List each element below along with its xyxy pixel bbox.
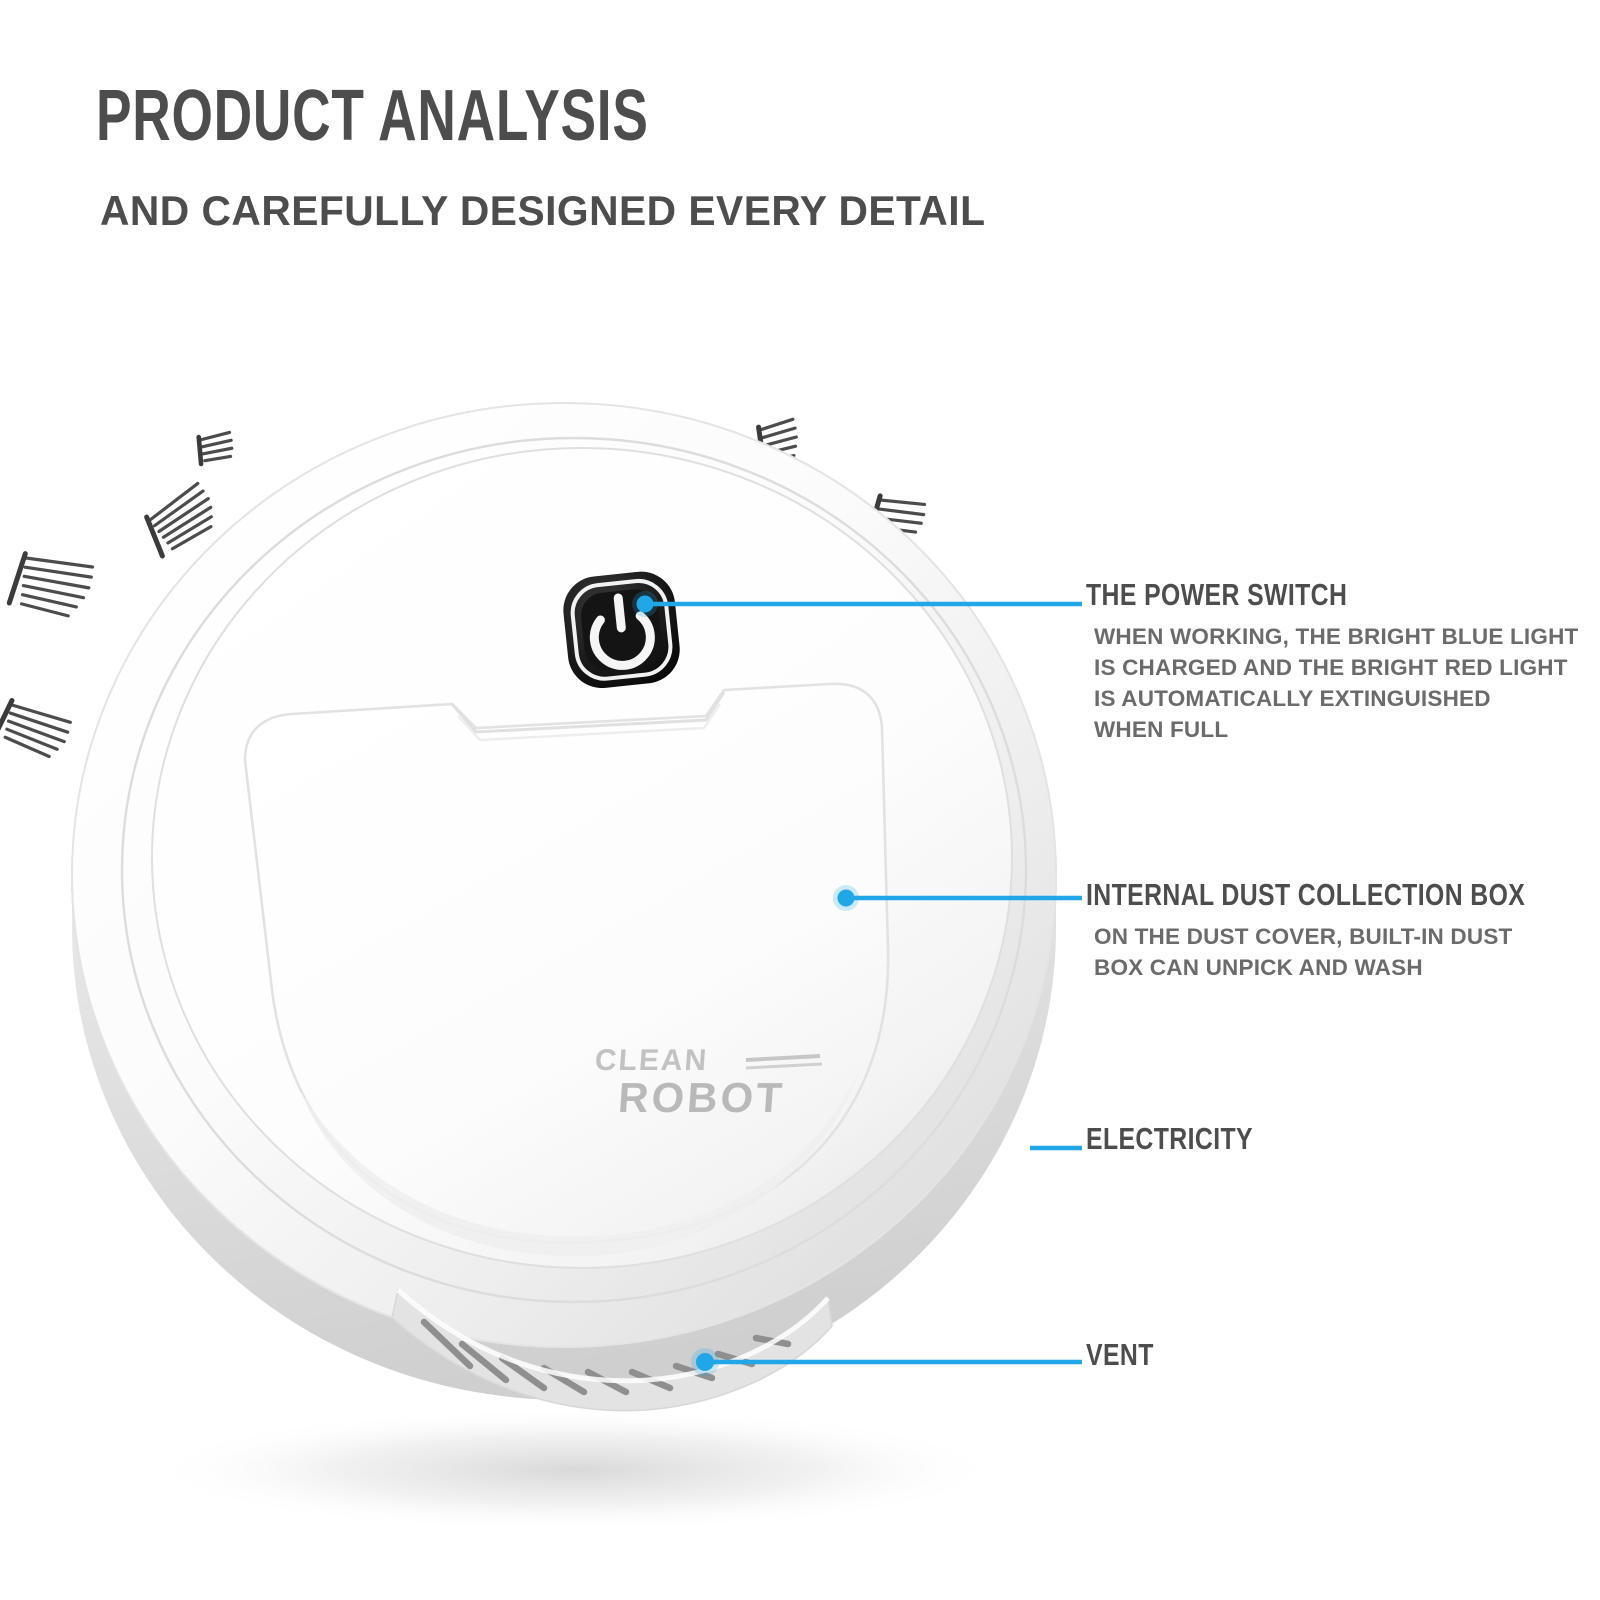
page-subtitle: AND CAREFULLY DESIGNED EVERY DETAIL xyxy=(100,188,985,234)
callout-power-switch: THE POWER SWITCH WHEN WORKING, THE BRIGH… xyxy=(1086,578,1578,745)
callout-body-dust-collection-box: ON THE DUST COVER, BUILT-IN DUST BOX CAN… xyxy=(1094,921,1600,983)
callout-electricity: ELECTRICITY xyxy=(1086,1122,1295,1156)
logo-text-robot: ROBOT xyxy=(617,1074,787,1121)
page-title: PRODUCT ANALYSIS xyxy=(96,78,649,154)
callout-body-power-switch: WHEN WORKING, THE BRIGHT BLUE LIGHT IS C… xyxy=(1094,621,1578,745)
callout-title-vent: VENT xyxy=(1086,1338,1154,1372)
callout-title-power-switch: THE POWER SWITCH xyxy=(1086,578,1480,612)
logo-text-clean: CLEAN xyxy=(594,1044,710,1077)
product-image-robot-vacuum: CLEAN ROBOT xyxy=(0,330,1120,1580)
callout-dust-collection-box: INTERNAL DUST COLLECTION BOX ON THE DUST… xyxy=(1086,878,1600,983)
callout-vent: VENT xyxy=(1086,1338,1171,1372)
callout-title-electricity: ELECTRICITY xyxy=(1086,1122,1253,1156)
power-button xyxy=(560,568,683,691)
product-drop-shadow xyxy=(145,1408,1005,1532)
callout-title-dust-collection-box: INTERNAL DUST COLLECTION BOX xyxy=(1086,878,1525,912)
